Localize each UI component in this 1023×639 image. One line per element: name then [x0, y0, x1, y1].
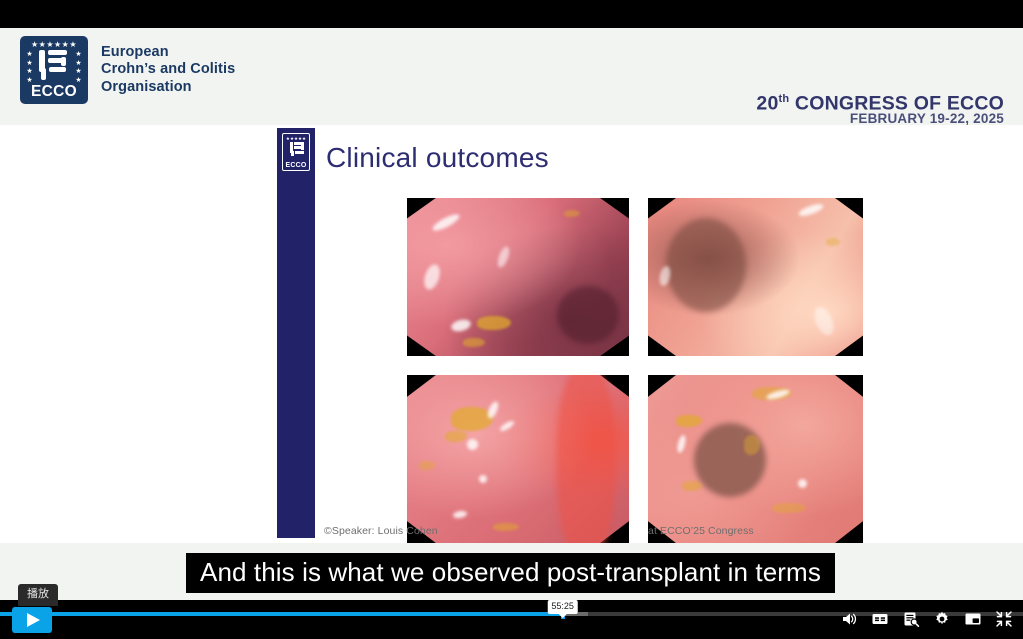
- endoscopy-image-4: [648, 375, 863, 543]
- presentation-slide: ★★★★★ ECCO Clinical outcomes: [0, 125, 1023, 543]
- ecco-wordmark: European Crohn’s and Colitis Organisatio…: [101, 44, 235, 97]
- endoscopy-image-3: [407, 375, 629, 543]
- congress-title-number: 20: [756, 93, 778, 115]
- right-controls-group: [840, 606, 1013, 632]
- subtitle-caption: And this is what we observed post-transp…: [186, 553, 835, 593]
- slide-logo-glyph: [290, 142, 304, 156]
- slide-logo-word: ECCO: [283, 162, 309, 169]
- play-tooltip: 播放: [18, 584, 58, 606]
- slide-logo-stars: ★★★★★: [285, 136, 307, 141]
- credit-speaker: ©Speaker: Louis Cohen: [324, 525, 438, 537]
- volume-icon[interactable]: [840, 610, 858, 628]
- ecco-badge-stars-right: ★★★★: [74, 51, 83, 85]
- closed-captions-icon[interactable]: [871, 610, 889, 628]
- congress-date: FEBRUARY 19-22, 2025: [850, 111, 1004, 126]
- slide-ecco-logo-icon: ★★★★★ ECCO: [282, 133, 310, 171]
- slide-accent-bar: [277, 128, 315, 538]
- ecco-logo: ★★★★★★ ★★★★ ★★★★ ECCO European C: [20, 36, 235, 104]
- video-stage[interactable]: ★★★★★★ ★★★★ ★★★★ ECCO European C: [0, 28, 1023, 600]
- ecco-badge-stars-left: ★★★★: [25, 51, 34, 85]
- ecco-wordmark-line3: Organisation: [101, 79, 235, 97]
- progress-played: [0, 612, 563, 616]
- credit-congress: at ECCO’25 Congress: [648, 525, 754, 537]
- picture-in-picture-icon[interactable]: [964, 610, 982, 628]
- ecco-badge-word: ECCO: [20, 83, 88, 101]
- ecco-badge-stars-top: ★★★★★★: [26, 41, 82, 49]
- play-button[interactable]: 播放: [12, 607, 52, 633]
- congress-title-ordinal: th: [779, 93, 790, 105]
- play-icon: [27, 613, 40, 627]
- ecco-wordmark-line1: European: [101, 44, 235, 62]
- presentation-header: ★★★★★★ ★★★★ ★★★★ ECCO European C: [0, 28, 1023, 125]
- transcript-icon[interactable]: [902, 610, 920, 628]
- ecco-wordmark-line2: Crohn’s and Colitis: [101, 61, 235, 79]
- exit-fullscreen-icon[interactable]: [995, 610, 1013, 628]
- endoscopy-image-1: [407, 198, 629, 356]
- video-player[interactable]: ★★★★★★ ★★★★ ★★★★ ECCO European C: [0, 0, 1023, 639]
- player-controls[interactable]: 55:25 播放: [0, 600, 1023, 639]
- ecco-badge-icon: ★★★★★★ ★★★★ ★★★★ ECCO: [20, 36, 88, 104]
- ecco-badge-glyph: [39, 50, 69, 80]
- time-tooltip: 55:25: [547, 600, 578, 614]
- slide-title: Clinical outcomes: [326, 142, 549, 174]
- endoscopy-image-2: [648, 198, 863, 356]
- settings-gear-icon[interactable]: [933, 610, 951, 628]
